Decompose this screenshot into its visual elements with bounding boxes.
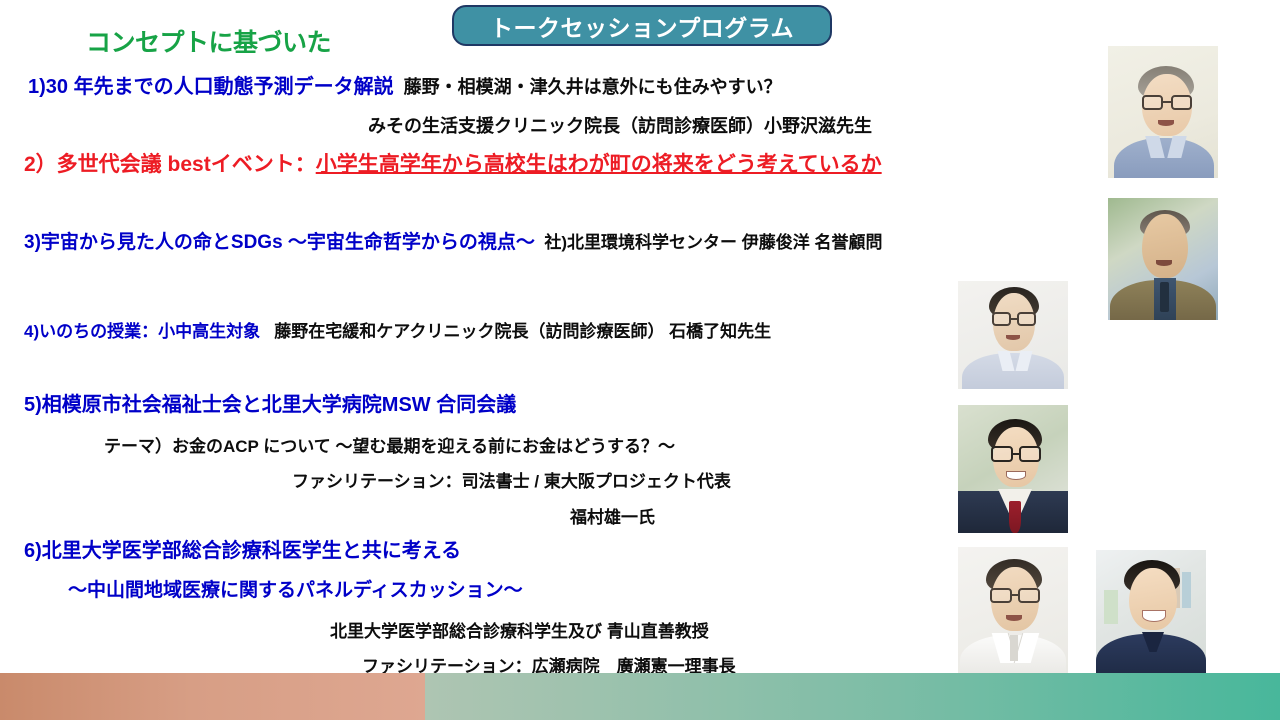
slide-root: コンセプトに基づいた トークセッションプログラム 1)30 年先までの人口動態予… bbox=[0, 0, 1280, 720]
bottom-bar-left-segment bbox=[0, 673, 425, 720]
bottom-decorative-bar bbox=[0, 673, 1280, 720]
program-item-6-title: 6)北里大学医学部総合診療科医学生と共に考える bbox=[24, 534, 461, 563]
portrait-ishibashi bbox=[958, 281, 1068, 389]
program-item-5-facilitator-name: 福村雄一氏 bbox=[570, 503, 655, 528]
title-banner: トークセッションプログラム bbox=[452, 5, 832, 46]
program-item-4-title: 4)いのちの授業：小中高生対象 bbox=[24, 322, 260, 341]
program-item-5-facilitation: ファシリテーション：司法書士 / 東大阪プロジェクト代表 bbox=[292, 467, 731, 492]
program-item-2-row: 2）多世代会議 bestイベント：小学生高学年から高校生はわが町の将来をどう考え… bbox=[24, 148, 882, 178]
portrait-ito-face bbox=[1142, 214, 1188, 278]
program-item-3-title: 3)宇宙から見た人の命とSDGs ～宇宙生命哲学からの視点～ bbox=[24, 232, 535, 253]
portrait-hirose bbox=[1096, 550, 1206, 674]
portrait-onozawa bbox=[1108, 46, 1218, 178]
portrait-fukumura-necktie bbox=[1009, 501, 1021, 533]
program-item-5-title: 5)相模原市社会福祉士会と北里大学病院MSW 合同会議 bbox=[24, 388, 516, 417]
program-item-5-theme: テーマ）お金のACP について ～望む最期を迎える前にお金はどうする？～ bbox=[104, 432, 675, 457]
title-banner-label: トークセッションプログラム bbox=[490, 9, 794, 43]
program-item-6-speaker: 北里大学医学部総合診療科学生及び 青山直善教授 bbox=[330, 617, 709, 642]
program-item-4-row: 4)いのちの授業：小中高生対象 藤野在宅緩和ケアクリニック院長（訪問診療医師） … bbox=[24, 317, 771, 342]
portrait-onozawa-glasses bbox=[1142, 96, 1192, 108]
portrait-ishibashi-torso bbox=[962, 353, 1064, 389]
program-item-1-title: 1)30 年先までの人口動態予測データ解説 bbox=[28, 76, 394, 98]
portrait-aoyama-glasses bbox=[990, 589, 1040, 601]
program-item-6-subtitle: ～中山間地域医療に関するパネルディスカッション～ bbox=[68, 575, 523, 602]
program-item-2-underlined-text: 小学生高学年から高校生はわが町の将来をどう考えているか bbox=[316, 153, 882, 176]
program-item-3-row: 3)宇宙から見た人の命とSDGs ～宇宙生命哲学からの視点～ 社)北里環境科学セ… bbox=[24, 227, 882, 254]
program-item-1-title-row: 1)30 年先までの人口動態予測データ解説 藤野・相模湖・津久井は意外にも住みや… bbox=[28, 70, 782, 99]
portrait-ito bbox=[1108, 198, 1218, 320]
program-item-1-subtitle: 藤野・相模湖・津久井は意外にも住みやすい？ bbox=[404, 77, 782, 97]
program-item-4-speaker: 藤野在宅緩和ケアクリニック院長（訪問診療医師） 石橋了知先生 bbox=[274, 322, 771, 341]
concept-heading: コンセプトに基づいた bbox=[86, 23, 331, 59]
portrait-ishibashi-glasses bbox=[992, 313, 1036, 324]
portrait-fukumura bbox=[958, 405, 1068, 533]
bottom-bar-right-segment bbox=[425, 673, 1280, 720]
portrait-fukumura-glasses bbox=[991, 447, 1041, 460]
portrait-aoyama bbox=[958, 547, 1068, 673]
program-item-3-speaker: 社)北里環境科学センター 伊藤俊洋 名誉顧問 bbox=[544, 233, 882, 252]
program-item-1-speaker: みその生活支援クリニック院長（訪問診療医師）小野沢滋先生 bbox=[368, 112, 872, 138]
program-item-2-title: 2）多世代会議 bestイベント： bbox=[24, 153, 316, 176]
